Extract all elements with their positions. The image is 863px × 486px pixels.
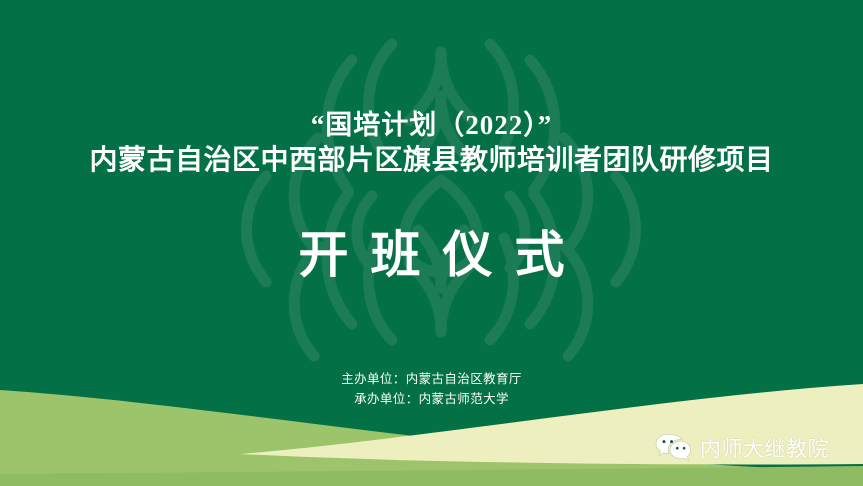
wechat-account-badge: 内师大继教院 (655, 433, 829, 463)
wechat-account-name: 内师大继教院 (700, 433, 829, 463)
host-organizer: 主办单位：内蒙古自治区教育厅 (0, 369, 863, 389)
slide-title: “国培计划（2022）” 内蒙古自治区中西部片区旗县教师培训者团队研修项目 (0, 108, 863, 178)
title-line-1: “国培计划（2022）” (0, 108, 863, 143)
title-line-2: 内蒙古自治区中西部片区旗县教师培训者团队研修项目 (0, 143, 863, 179)
wechat-icon (655, 433, 691, 463)
headline-text: 开班仪式 (0, 228, 863, 283)
undertaking-organizer: 承办单位：内蒙古师范大学 (0, 389, 863, 409)
organizer-block: 主办单位：内蒙古自治区教育厅 承办单位：内蒙古师范大学 (0, 369, 863, 410)
presentation-slide: “国培计划（2022）” 内蒙古自治区中西部片区旗县教师培训者团队研修项目 开班… (0, 0, 863, 486)
